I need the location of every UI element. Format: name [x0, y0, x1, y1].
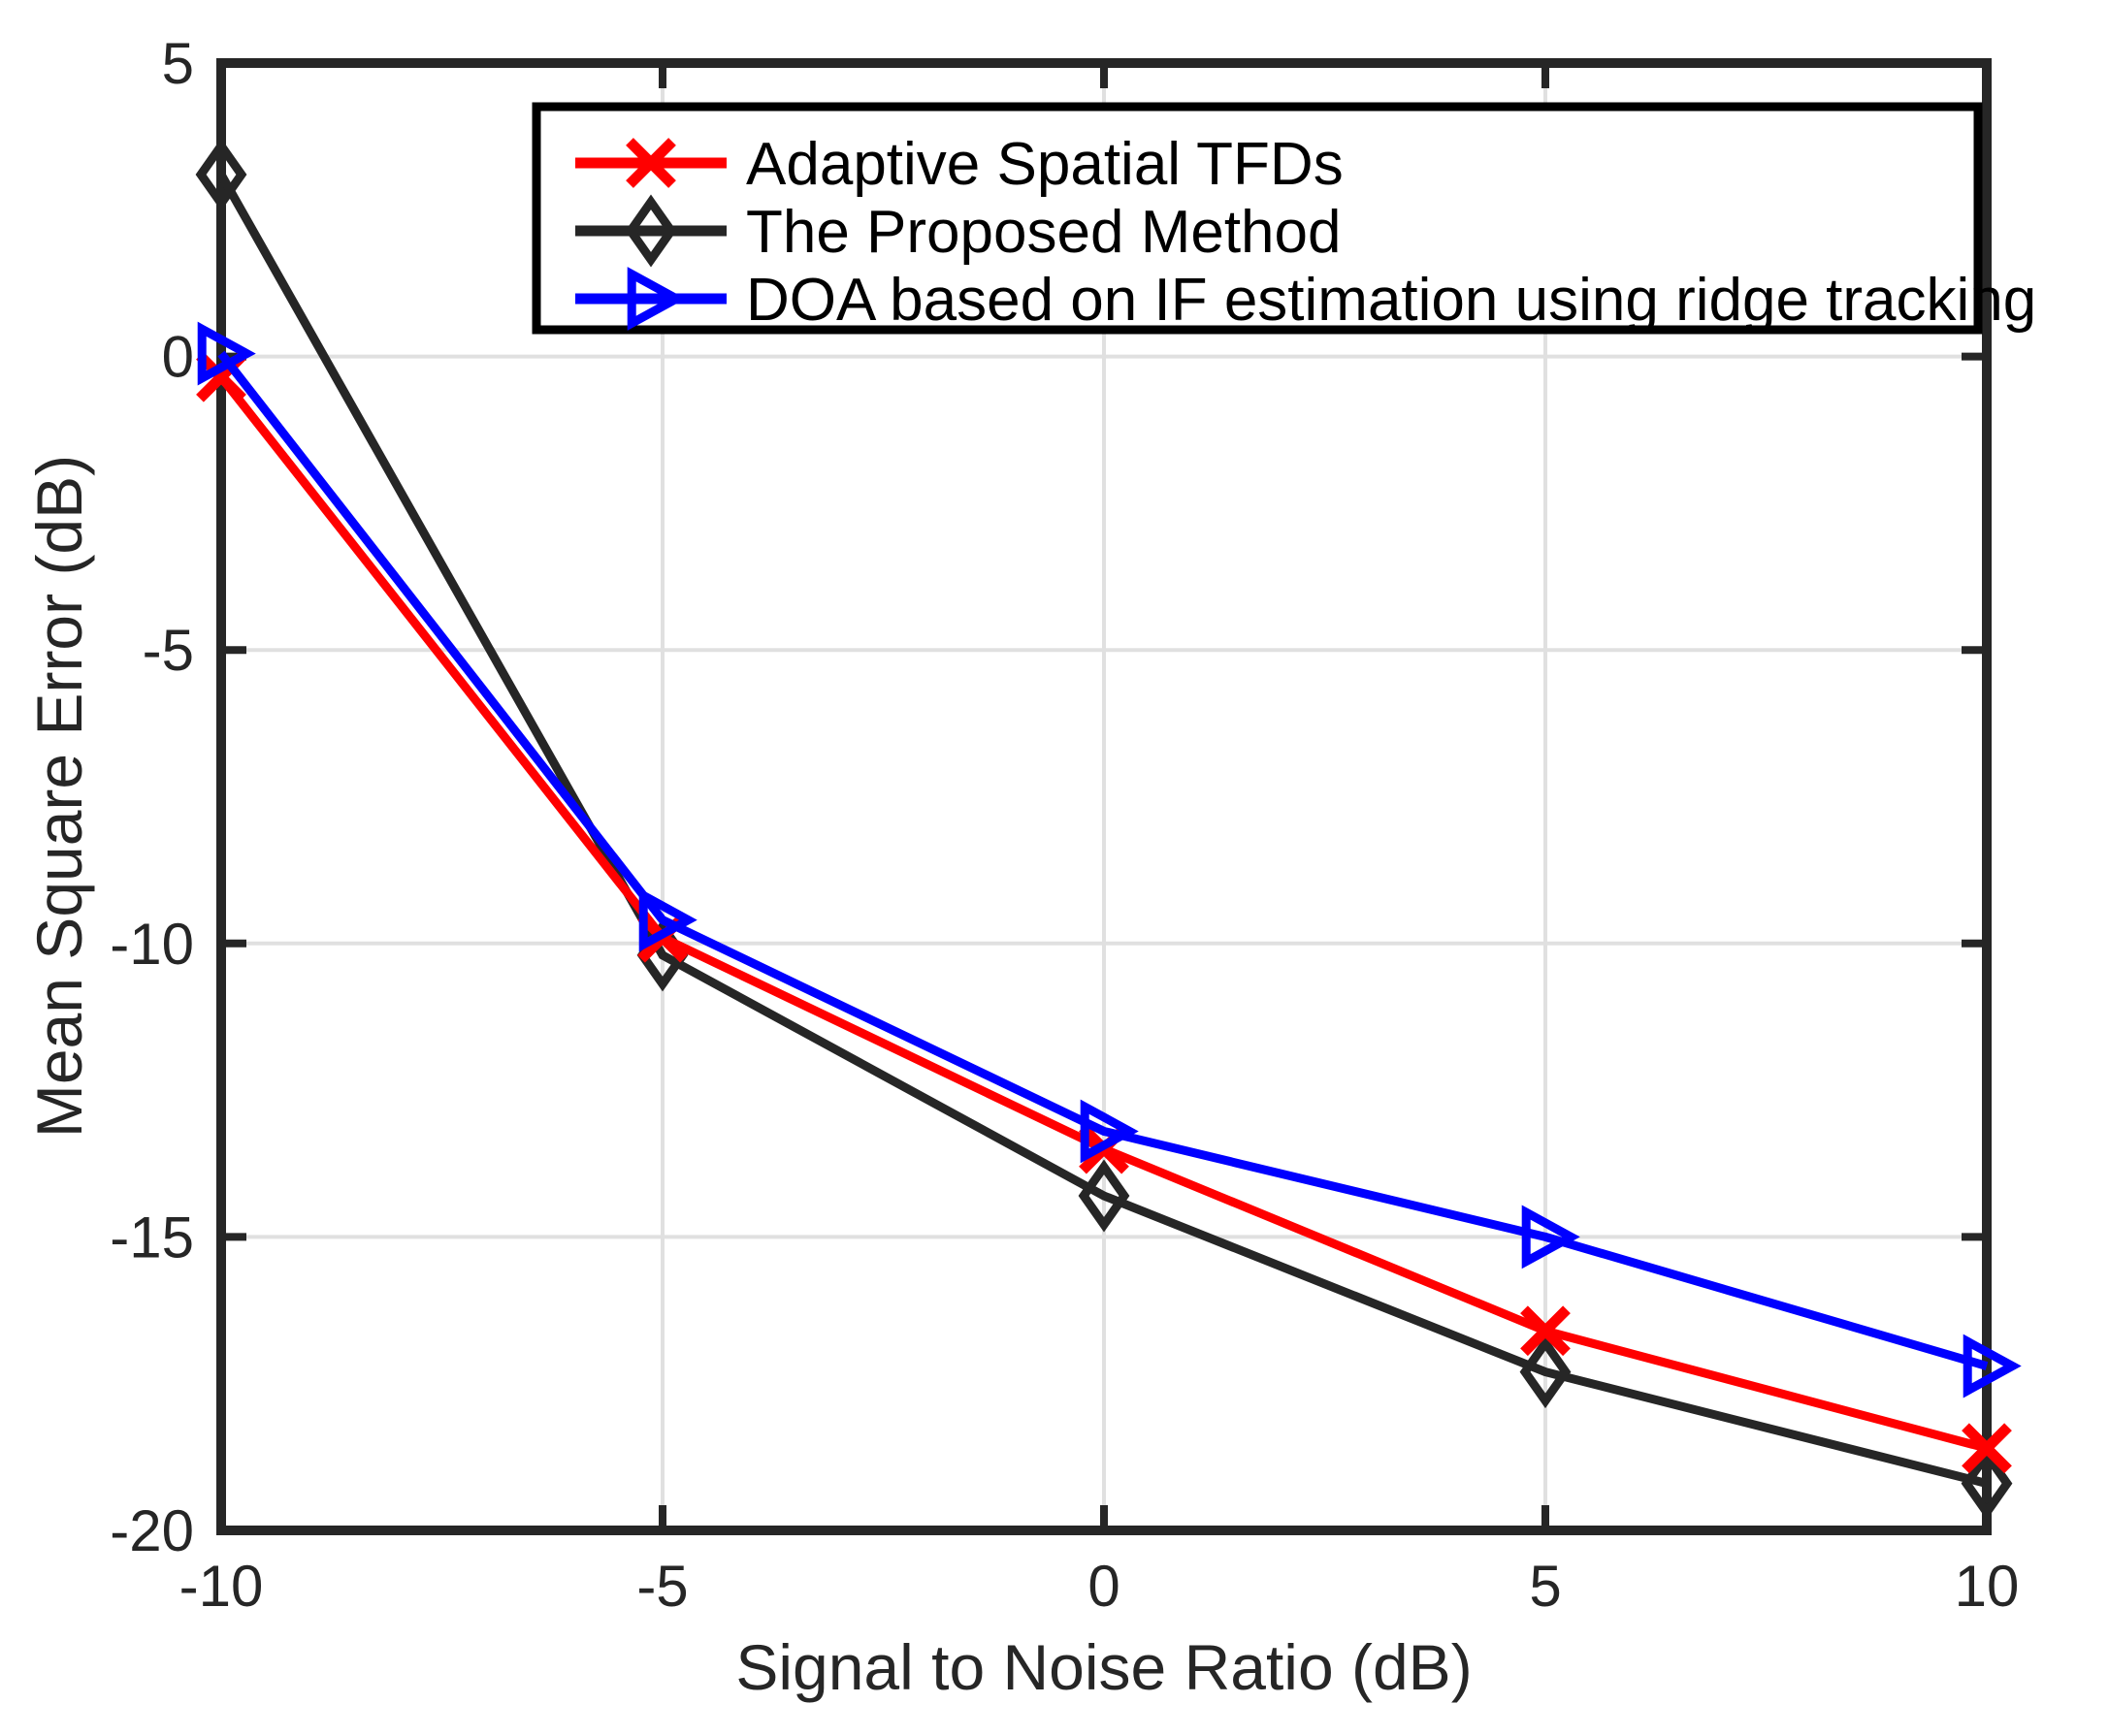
chart-figure: 50-5-10-15-20 -10-50510 Signal to Noise …	[0, 0, 2109, 1736]
data-series-group	[200, 145, 2012, 1512]
data-series	[202, 329, 2012, 1391]
x-tick-label: 0	[1087, 1554, 1119, 1619]
chart-legend[interactable]: Adaptive Spatial TFDsThe Proposed Method…	[536, 107, 2036, 334]
x-tick-label: -5	[636, 1554, 688, 1619]
legend-entry-label: Adaptive Spatial TFDs	[746, 131, 1344, 198]
x-tick-label: -10	[179, 1554, 264, 1619]
x-tick-label: 5	[1529, 1554, 1561, 1619]
y-tick-label: 0	[162, 325, 194, 390]
legend-entry-label: The Proposed Method	[746, 199, 1342, 266]
y-tick-label: -15	[110, 1205, 194, 1270]
y-tick-label: -5	[143, 618, 194, 683]
x-axis-tick-labels: -10-50510	[179, 1554, 2020, 1619]
y-tick-label: -10	[110, 912, 194, 977]
x-axis-title: Signal to Noise Ratio (dB)	[735, 1631, 1472, 1703]
line-chart-canvas: 50-5-10-15-20 -10-50510 Signal to Noise …	[0, 0, 2109, 1736]
legend-entry-label: DOA based on IF estimation using ridge t…	[746, 267, 2036, 334]
y-tick-label: 5	[162, 31, 194, 96]
legend-entry[interactable]: DOA based on IF estimation using ridge t…	[575, 267, 2036, 334]
y-axis-title: Mean Square Error (dB)	[23, 455, 95, 1138]
x-tick-label: 10	[1955, 1554, 2020, 1619]
y-axis-tick-labels: 50-5-10-15-20	[110, 31, 194, 1563]
